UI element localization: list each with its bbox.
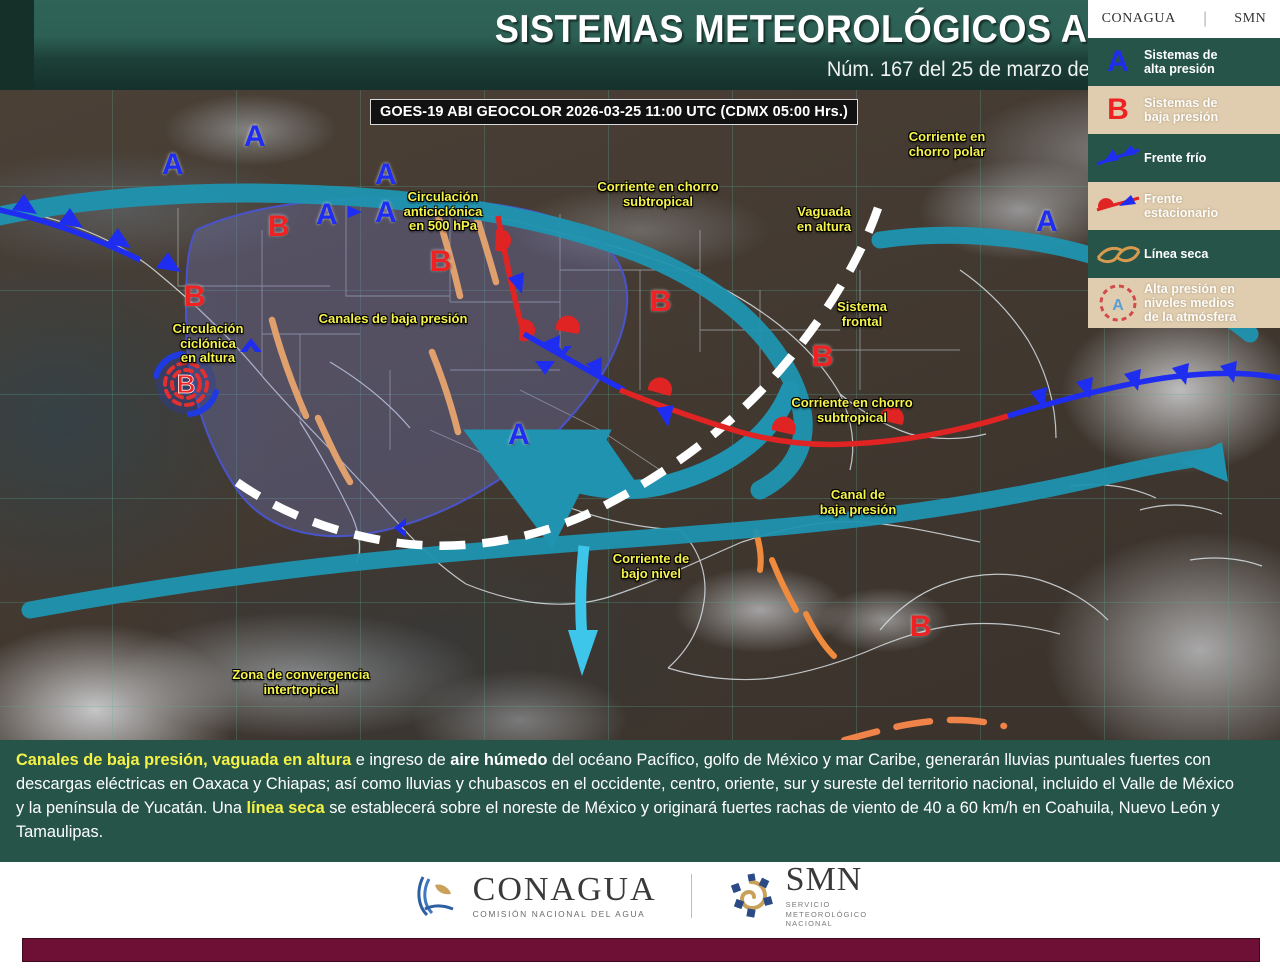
map-label-circulacion-ciclonica: Circulación ciclónica en altura — [148, 322, 268, 366]
low-pressure-marker-11: B — [910, 610, 932, 644]
conagua-logo: CONAGUA COMISIÓN NACIONAL DEL AGUA — [413, 871, 657, 921]
legend-item-stationary-front[interactable]: Frente estacionario — [1088, 182, 1280, 230]
map-label-corriente-chorro-subtropical-norte: Corriente en chorro subtropical — [578, 180, 738, 209]
jet-arrowhead-east — [1180, 442, 1228, 482]
high-pressure-marker-0: A — [162, 148, 184, 182]
high-pressure-marker-2: A — [316, 198, 338, 232]
low-pressure-marker-10: B — [812, 340, 834, 374]
legend-panel: CONAGUA | SMN A Sistemas de alta presión… — [1088, 0, 1280, 328]
forecast-summary: Canales de baja presión, vaguada en altu… — [0, 740, 1280, 862]
smn-wordmark: SMN SERVICIO METEOROLÓGICO NACIONAL — [786, 863, 868, 929]
map-label-corriente-bajo-nivel: Corriente de bajo nivel — [598, 552, 704, 581]
cold-front-icon — [1092, 145, 1144, 171]
map-label-corriente-chorro-subtropical-sur: Corriente en chorro subtropical — [772, 396, 932, 425]
smn-emblem-icon — [726, 871, 776, 921]
smn-subtitle: SERVICIO METEOROLÓGICO NACIONAL — [786, 900, 868, 929]
bottom-color-bar — [0, 930, 1280, 968]
map-label-sistema-frontal: Sistema frontal — [820, 300, 904, 329]
low-pressure-marker-9: B — [650, 285, 672, 319]
legend-label-cold-front: Frente frío — [1144, 151, 1206, 165]
dry-line-yucatan — [690, 720, 1004, 740]
conagua-wordmark: CONAGUA COMISIÓN NACIONAL DEL AGUA — [473, 873, 657, 918]
svg-text:A: A — [1112, 297, 1124, 314]
legend-conagua-wordmark: CONAGUA — [1102, 11, 1176, 27]
low-level-current-arrow — [568, 546, 598, 676]
dry-line-icon — [1092, 242, 1144, 266]
low-pressure-marker-8: B — [430, 245, 452, 279]
smn-logo: SMN SERVICIO METEOROLÓGICO NACIONAL — [726, 863, 868, 929]
summary-segment-bold: aire húmedo — [450, 750, 547, 769]
brand-divider — [691, 874, 692, 918]
forecast-summary-text: Canales de baja presión, vaguada en altu… — [16, 748, 1245, 844]
high-pressure-A-icon: A — [1092, 47, 1144, 77]
high-pressure-marker-6: A — [1036, 205, 1058, 239]
legend-item-low-pressure[interactable]: B Sistemas de baja presión — [1088, 86, 1280, 134]
map-label-circulacion-anticiclonica: Circulación anticiclónica en 500 hPa — [388, 190, 498, 234]
map-label-zona-convergencia-intertropical: Zona de convergencia intertropical — [210, 668, 392, 697]
high-pressure-marker-1: A — [244, 120, 266, 154]
map-label-vaguada-en-altura: Vaguada en altura — [780, 205, 868, 234]
svg-text:B: B — [177, 369, 196, 399]
high-pressure-marker-3: A — [375, 158, 397, 192]
low-pressure-marker-12: B — [184, 280, 206, 314]
legend-label-low-pressure: Sistemas de baja presión — [1144, 96, 1218, 124]
map-label-canal-de-baja-presion: Canal de baja presión — [808, 488, 908, 517]
legend-label-mid-level-high: Alta presión en niveles medios de la atm… — [1144, 282, 1236, 324]
low-pressure-B-icon: B — [1092, 95, 1144, 125]
low-pressure-channels-south — [756, 532, 834, 656]
legend-logos: CONAGUA | SMN — [1088, 0, 1280, 38]
summary-segment-highlight: línea seca — [247, 798, 325, 817]
low-pressure-marker-7: B — [268, 210, 290, 244]
legend-item-dry-line[interactable]: Línea seca — [1088, 230, 1280, 278]
satellite-product-label: GOES-19 ABI GEOCOLOR 2026-03-25 11:00 UT… — [370, 99, 858, 125]
conagua-emblem-icon — [413, 871, 463, 921]
mid-level-high-icon: A — [1092, 281, 1144, 325]
bottom-bar-fill — [22, 938, 1260, 962]
legend-label-high-pressure: Sistemas de alta presión — [1144, 48, 1218, 76]
conagua-subtitle: COMISIÓN NACIONAL DEL AGUA — [473, 910, 657, 918]
summary-segment-highlight: Canales de baja presión, vaguada en altu… — [16, 750, 351, 769]
legend-smn-wordmark: SMN — [1234, 11, 1266, 27]
legend-item-cold-front[interactable]: Frente frío — [1088, 134, 1280, 182]
legend-label-stationary-front: Frente estacionario — [1144, 192, 1218, 220]
jet-arrowhead-big — [572, 430, 640, 490]
map-label-canales-baja-presion: Canales de baja presión — [298, 312, 488, 327]
legend-label-dry-line: Línea seca — [1144, 247, 1208, 261]
map-label-corriente-chorro-polar: Corriente en chorro polar — [895, 130, 999, 159]
brand-bar: CONAGUA COMISIÓN NACIONAL DEL AGUA SMN S… — [0, 862, 1280, 930]
header-left-block — [0, 0, 34, 90]
high-pressure-marker-5: A — [508, 418, 530, 452]
stationary-front-icon — [1092, 193, 1144, 219]
summary-segment-normal: e ingreso de — [351, 750, 450, 769]
legend-item-high-pressure[interactable]: A Sistemas de alta presión — [1088, 38, 1280, 86]
legend-item-mid-level-high[interactable]: A Alta presión en niveles medios de la a… — [1088, 278, 1280, 328]
